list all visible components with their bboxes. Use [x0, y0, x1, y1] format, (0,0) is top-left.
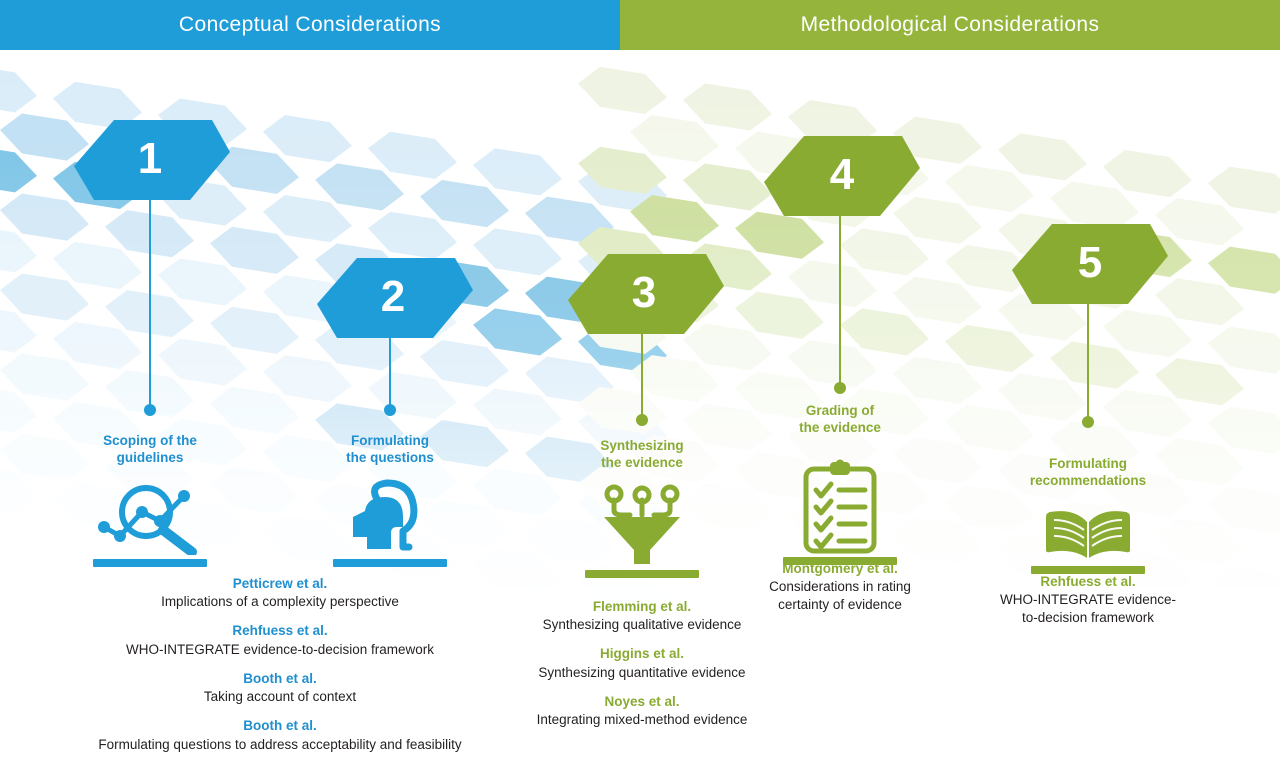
reference-description: Taking account of context [40, 688, 520, 706]
step-2-block: Formulating the questions [300, 432, 480, 567]
step-5-title-line2: recommendations [998, 472, 1178, 489]
step-1-title-line2: guidelines [60, 449, 240, 466]
reference-description: Integrating mixed-method evidence [492, 711, 792, 729]
step-hexagon-3-number: 3 [632, 268, 656, 317]
reference-description: Considerations in rating [740, 578, 940, 596]
step-1-block: Scoping of the guidelines [60, 432, 240, 567]
reference-author: Rehfuess et al. [988, 573, 1188, 591]
reference-list-recommendations: Rehfuess et al. WHO-INTEGRATE evidence- … [988, 573, 1188, 628]
step-5-title-line1: Formulating [998, 455, 1178, 472]
reference-description: to-decision framework [988, 609, 1188, 627]
reference-description: Synthesizing quantitative evidence [492, 664, 792, 682]
step-3-title-line2: the evidence [552, 454, 732, 471]
step-hexagon-2-number: 2 [381, 272, 405, 321]
step-5-block: Formulating recommendations [998, 455, 1178, 574]
step-4-block: Grading of the evidence [750, 402, 930, 565]
infographic-canvas: Conceptual Considerations Methodological… [0, 0, 1280, 777]
reference-author: Booth et al. [40, 670, 520, 688]
step-2-title-line1: Formulating [300, 432, 480, 449]
head-question-icon [300, 473, 480, 555]
open-book-icon [998, 498, 1178, 564]
reference-description: Implications of a complexity perspective [40, 593, 520, 611]
step-1-title-line1: Scoping of the [60, 432, 240, 449]
reference-item: Booth et al. Taking account of context [40, 670, 520, 706]
step-hexagon-3: 3 [566, 252, 726, 336]
reference-author: Petticrew et al. [40, 575, 520, 593]
reference-author: Booth et al. [40, 717, 520, 735]
reference-item: Rehfuess et al. WHO-INTEGRATE evidence- … [988, 573, 1188, 628]
clipboard-checklist-icon [750, 447, 930, 555]
reference-item: Noyes et al. Integrating mixed-method ev… [492, 693, 792, 729]
reference-description: Synthesizing qualitative evidence [492, 616, 792, 634]
step-hexagon-1-number: 1 [138, 134, 162, 183]
reference-description: Formulating questions to address accepta… [40, 736, 520, 754]
step-3-title-line1: Synthesizing [552, 437, 732, 454]
reference-description: WHO-INTEGRATE evidence- [988, 591, 1188, 609]
reference-description: WHO-INTEGRATE evidence-to-decision frame… [40, 641, 520, 659]
step-3-block: Synthesizing the evidence [552, 437, 732, 578]
step-4-title: Grading of the evidence [750, 402, 930, 437]
step-4-title-line1: Grading of [750, 402, 930, 419]
reference-list-conceptual: Petticrew et al. Implications of a compl… [40, 575, 520, 754]
reference-list-grading: Montgomery et al. Considerations in rati… [740, 560, 940, 615]
step-3-title: Synthesizing the evidence [552, 437, 732, 472]
reference-item: Rehfuess et al. WHO-INTEGRATE evidence-t… [40, 622, 520, 658]
step-5-title: Formulating recommendations [998, 455, 1178, 490]
reference-item: Higgins et al. Synthesizing quantitative… [492, 645, 792, 681]
reference-description: certainty of evidence [740, 596, 940, 614]
reference-author: Rehfuess et al. [40, 622, 520, 640]
step-hexagon-5: 5 [1010, 222, 1170, 306]
reference-item: Montgomery et al. Considerations in rati… [740, 560, 940, 615]
reference-author: Montgomery et al. [740, 560, 940, 578]
magnifier-chart-icon [60, 473, 240, 555]
reference-item: Booth et al. Formulating questions to ad… [40, 717, 520, 753]
reference-author: Noyes et al. [492, 693, 792, 711]
step-3-underline [585, 570, 699, 578]
step-1-underline [93, 559, 207, 567]
step-hexagon-1: 1 [72, 118, 232, 202]
step-hexagon-4: 4 [762, 134, 922, 218]
reference-author: Higgins et al. [492, 645, 792, 663]
step-hexagon-5-number: 5 [1078, 238, 1102, 287]
step-2-title-line2: the questions [300, 449, 480, 466]
step-2-title: Formulating the questions [300, 432, 480, 467]
step-2-underline [333, 559, 447, 567]
step-hexagon-2: 2 [315, 256, 475, 340]
reference-list-synthesizing: Flemming et al. Synthesizing qualitative… [492, 598, 792, 729]
reference-item: Petticrew et al. Implications of a compl… [40, 575, 520, 611]
funnel-nodes-icon [552, 480, 732, 566]
step-1-title: Scoping of the guidelines [60, 432, 240, 467]
step-4-title-line2: the evidence [750, 419, 930, 436]
step-hexagon-4-number: 4 [830, 150, 855, 199]
